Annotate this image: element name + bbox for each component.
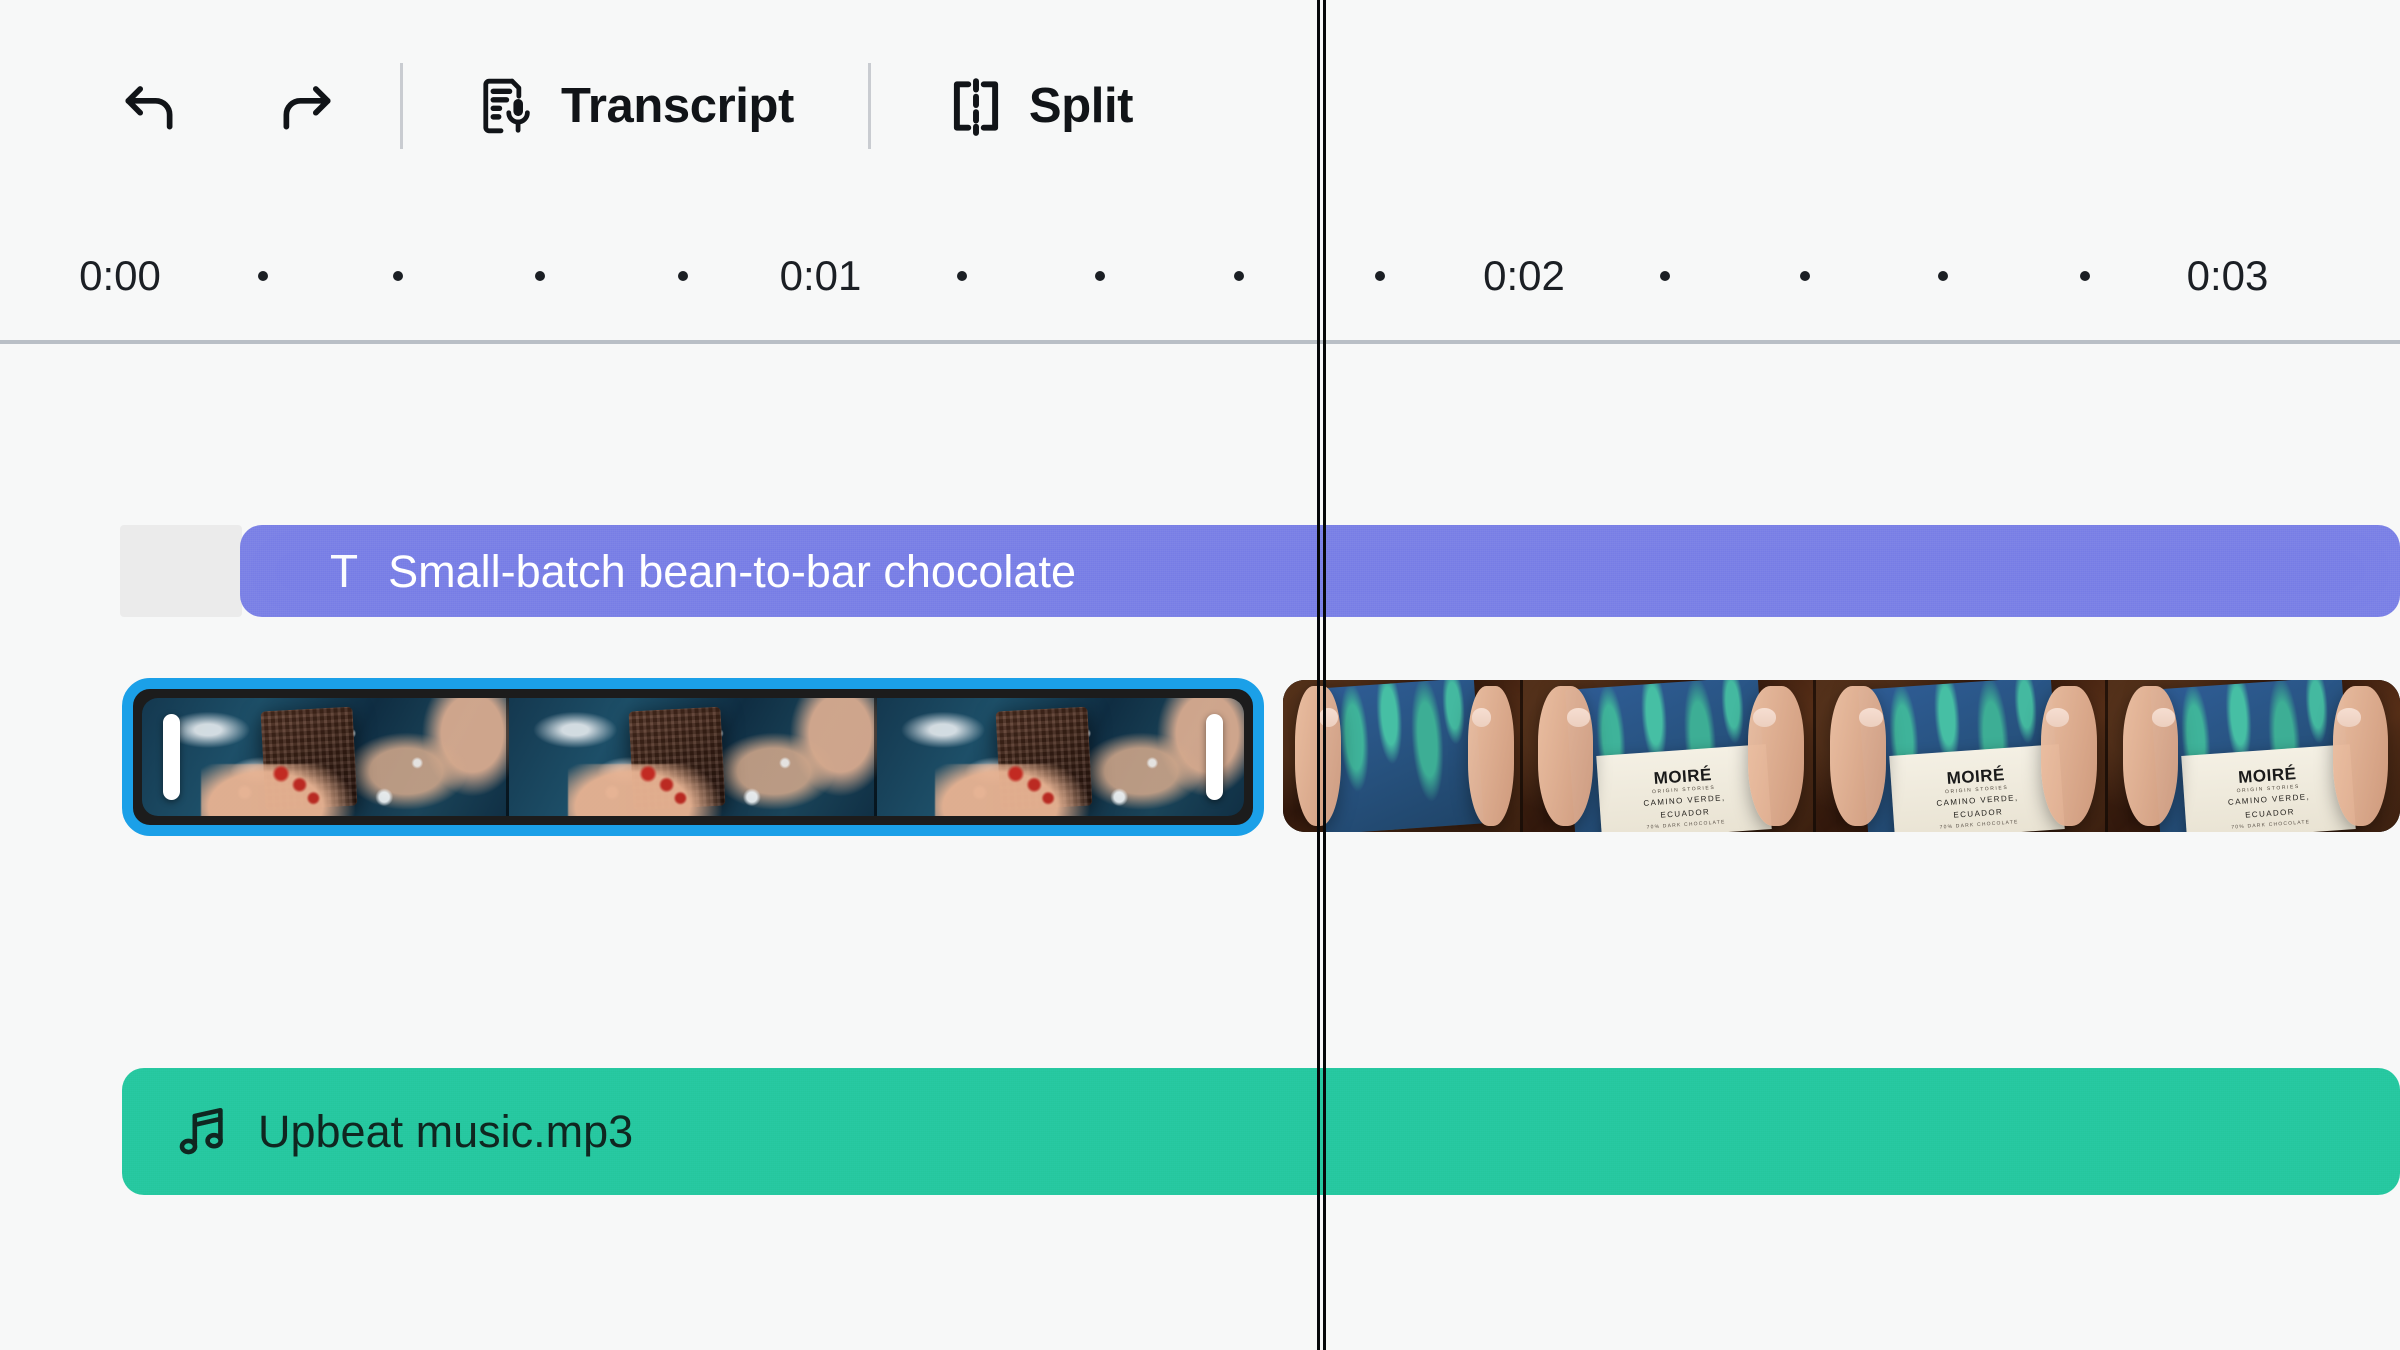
text-clip-small-batch[interactable]: T Small-batch bean-to-bar chocolate <box>240 525 2400 617</box>
video-clip-moire[interactable]: MOIRÉ ORIGIN STORIES CAMINO VERDE, ECUAD… <box>1283 680 2400 832</box>
text-clip-label: Small-batch bean-to-bar chocolate <box>388 549 1076 594</box>
redo-button[interactable] <box>264 64 348 148</box>
ruler-tick-dot <box>1234 212 1244 340</box>
video-thumbnail <box>142 698 509 816</box>
split-button[interactable]: Split <box>909 61 1169 151</box>
hand-right <box>2333 686 2388 826</box>
timeline-ruler[interactable]: 0:000:010:020:03 <box>0 212 2400 342</box>
ruler-tick-dot <box>1375 212 1385 340</box>
document-microphone-icon <box>477 75 539 137</box>
video-clip-thumbnail-strip <box>142 698 1244 816</box>
ruler-time-label: 0:01 <box>780 212 862 340</box>
editor-toolbar: Transcript Split <box>0 0 2400 212</box>
split-brackets-icon <box>945 75 1007 137</box>
ruler-tick-dot <box>2080 212 2090 340</box>
audio-clip-label: Upbeat music.mp3 <box>258 1109 633 1154</box>
clip-trim-handle-left[interactable] <box>163 714 180 800</box>
video-clip-selected[interactable] <box>122 678 1264 836</box>
timeline-editor-window: Transcript Split 0:000:010:020:03 <box>0 0 2400 1350</box>
undo-button[interactable] <box>108 64 192 148</box>
ruler-time-label: 0:02 <box>1483 212 1565 340</box>
split-button-label: Split <box>1029 82 1133 131</box>
ruler-tick-dot <box>1095 212 1105 340</box>
text-track-placeholder[interactable] <box>120 525 242 617</box>
audio-clip-upbeat-music[interactable]: Upbeat music.mp3 <box>122 1068 2400 1195</box>
ruler-tick-dot <box>258 212 268 340</box>
chocolate-bar-label: MOIRÉ ORIGIN STORIES CAMINO VERDE, ECUAD… <box>2181 744 2356 832</box>
hand-right <box>1748 686 1804 826</box>
ruler-tick-dot <box>535 212 545 340</box>
text-t-icon: T <box>330 548 358 594</box>
hand-left <box>1295 686 1341 826</box>
video-thumbnail <box>509 698 876 816</box>
timeline-tracks: T Small-batch bean-to-bar chocolate <box>0 344 2400 1350</box>
ruler-tick-dot <box>678 212 688 340</box>
toolbar-divider-1 <box>400 63 403 149</box>
hand-right <box>1468 686 1514 826</box>
video-thumbnail <box>1283 680 1523 832</box>
chocolate-bar-label: MOIRÉ ORIGIN STORIES CAMINO VERDE, ECUAD… <box>1889 744 2064 832</box>
redo-arrow-icon <box>275 75 337 137</box>
transcript-button[interactable]: Transcript <box>441 61 830 151</box>
ruler-time-label: 0:00 <box>79 212 161 340</box>
ruler-tick-dot <box>957 212 967 340</box>
undo-arrow-icon <box>119 75 181 137</box>
hand-left <box>2123 686 2178 826</box>
hand-left <box>1538 686 1594 826</box>
hand-left <box>1830 686 1886 826</box>
video-thumbnail: MOIRÉ ORIGIN STORIES CAMINO VERDE, ECUAD… <box>1523 680 1816 832</box>
transcript-button-label: Transcript <box>561 82 794 131</box>
clip-trim-handle-right[interactable] <box>1206 714 1223 800</box>
chocolate-wrapper-art <box>1317 680 1485 832</box>
toolbar-divider-2 <box>868 63 871 149</box>
chocolate-bar-label: MOIRÉ ORIGIN STORIES CAMINO VERDE, ECUAD… <box>1596 744 1771 832</box>
video-thumbnail: MOIRÉ ORIGIN STORIES CAMINO VERDE, ECUAD… <box>1816 680 2109 832</box>
video-thumbnail <box>877 698 1244 816</box>
ruler-tick-dot <box>1660 212 1670 340</box>
hand-right <box>2041 686 2097 826</box>
ruler-tick-dot <box>1800 212 1810 340</box>
ruler-tick-dot <box>1938 212 1948 340</box>
video-clip-thumbnail-strip: MOIRÉ ORIGIN STORIES CAMINO VERDE, ECUAD… <box>1283 680 2400 832</box>
ruler-time-label: 0:03 <box>2187 212 2269 340</box>
ruler-tick-container: 0:000:010:020:03 <box>0 212 2400 340</box>
ruler-tick-dot <box>393 212 403 340</box>
music-note-icon <box>174 1103 232 1161</box>
video-thumbnail: MOIRÉ ORIGIN STORIES CAMINO VERDE, ECUAD… <box>2108 680 2400 832</box>
